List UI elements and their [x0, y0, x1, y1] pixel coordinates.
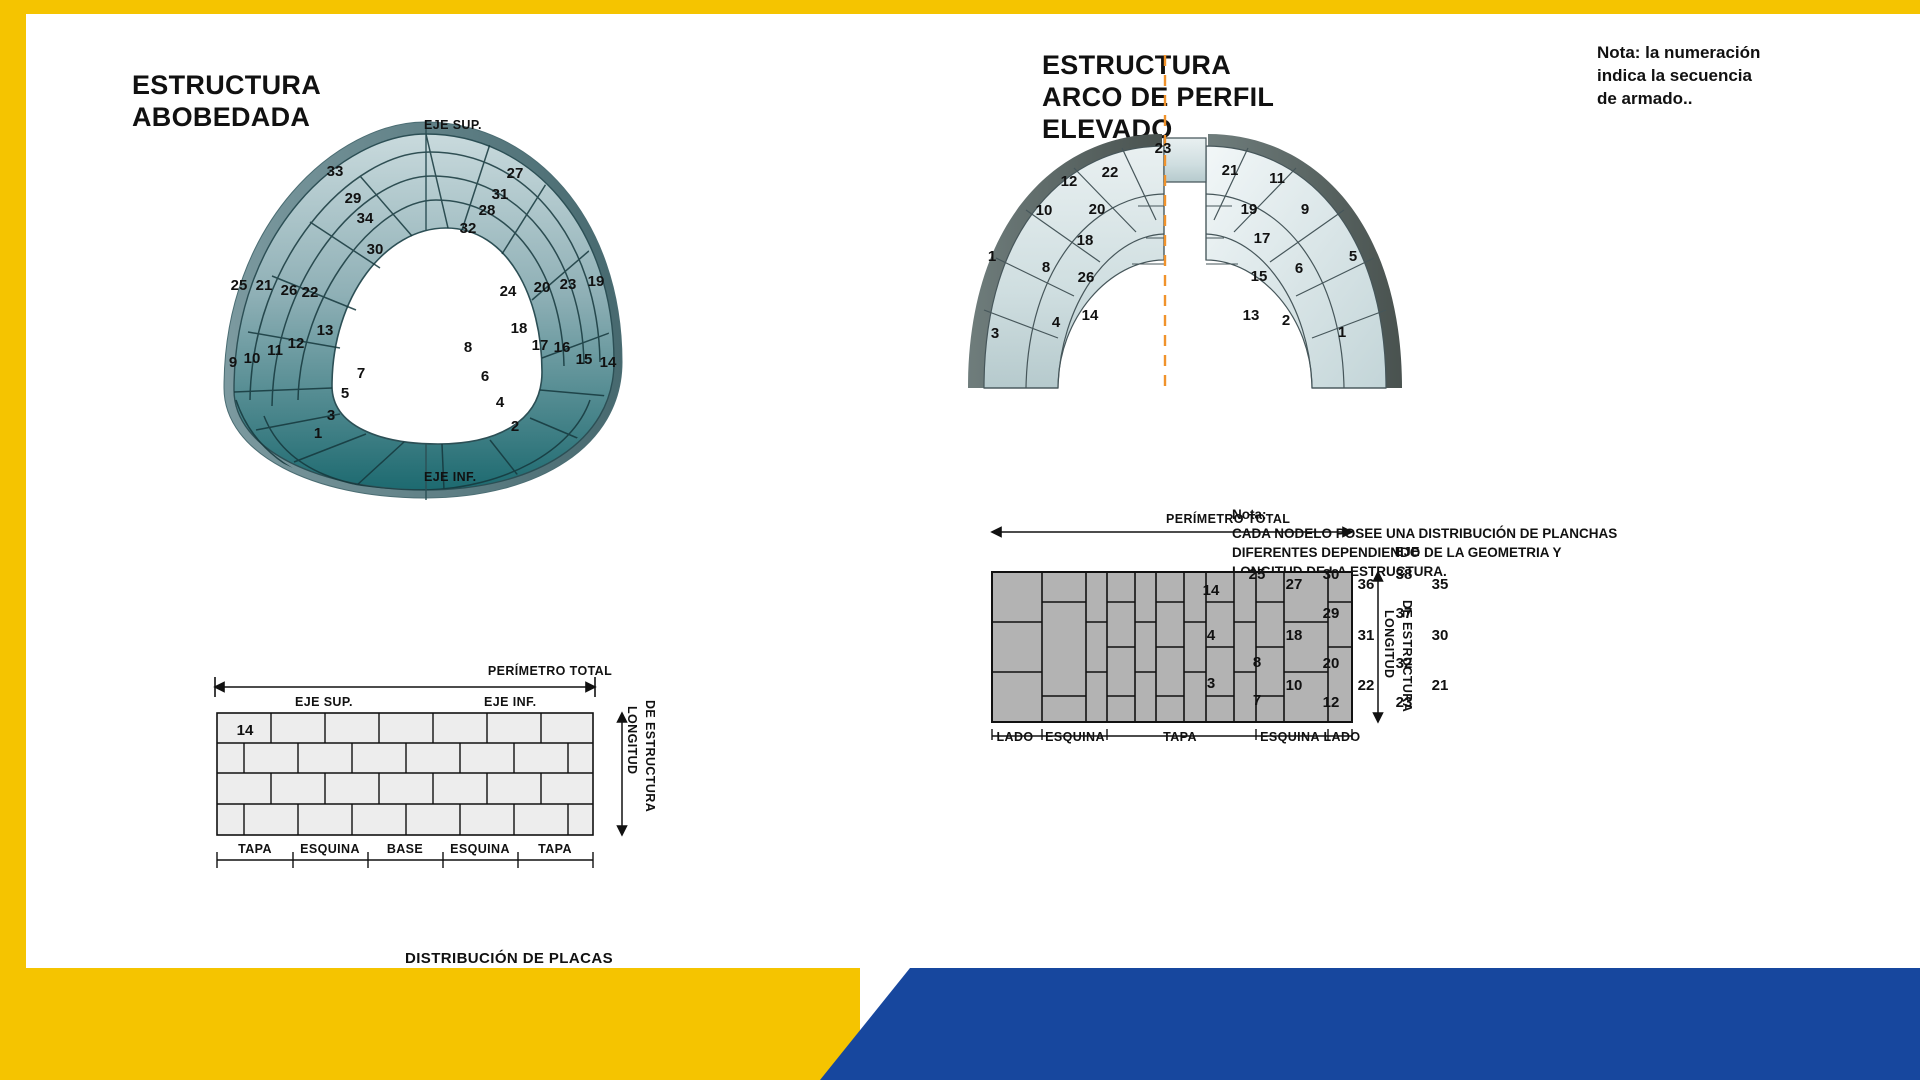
vaulted-arch-diagram [190, 100, 750, 520]
dimension-label: ESQUINA [1045, 730, 1105, 744]
center-axis-dashed [1160, 55, 1170, 395]
arch-crown-plate [1164, 138, 1206, 182]
left-label-perimetro: PERÍMETRO TOTAL [488, 664, 612, 678]
left-label-longitud: LONGITUD [625, 706, 639, 774]
dimension-label: ESQUINA [450, 842, 510, 856]
label-eje-inf-arch: EJE INF. [424, 470, 477, 484]
arch-right-half [1206, 146, 1386, 388]
plate-grid: 14 [217, 713, 593, 835]
plate-grid-right [992, 572, 1352, 722]
right-label-longitud: LONGITUD [1382, 610, 1396, 678]
left-label-eje-inf: EJE INF. [484, 695, 537, 709]
label-eje-sup-arch: EJE SUP. [424, 118, 482, 132]
left-label-eje-sup: EJE SUP. [295, 695, 353, 709]
left-accent-band [0, 0, 26, 1080]
right-label-eje: EJE [1395, 545, 1420, 559]
arch-left-half [984, 146, 1164, 388]
raised-arch-diagram [950, 110, 1420, 410]
dimension-label: LADO [996, 730, 1033, 744]
dimension-label: BASE [387, 842, 423, 856]
dimension-label: TAPA [238, 842, 272, 856]
perimeter-dimension-line [215, 677, 595, 697]
dimension-label: TAPA [538, 842, 572, 856]
diagram-caption: DISTRIBUCIÓN DE PLACAS [405, 950, 613, 967]
footer-blue-band [820, 968, 1920, 1080]
footer-yellow-band [0, 968, 860, 1080]
left-label-longitud-2: DE ESTRUCTURA [643, 700, 657, 812]
plate-cell-14: 14 [237, 722, 254, 739]
dimension-label: TAPA [1163, 730, 1197, 744]
perimeter-dimension-line-right [992, 528, 1352, 537]
dimension-label: LADO [1323, 730, 1360, 744]
top-accent-band [0, 0, 1920, 14]
right-label-perimetro: PERÍMETRO TOTAL [1166, 512, 1290, 526]
dimension-label: ESQUINA [1260, 730, 1320, 744]
right-label-longitud-2: DE ESTRUCTURA [1400, 600, 1414, 712]
page-canvas: ESTRUCTURA ABOBEDADA ESTRUCTURA ARCO DE … [0, 0, 1920, 1080]
dimension-label: ESQUINA [300, 842, 360, 856]
right-plate-distribution-table [980, 510, 1450, 740]
sequence-note: Nota: la numeración indica la secuencia … [1597, 42, 1760, 111]
